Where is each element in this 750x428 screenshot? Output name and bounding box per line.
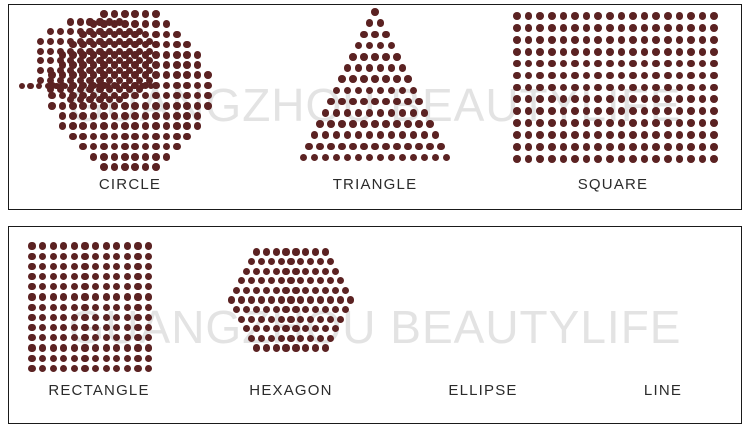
pattern-dot: [100, 10, 108, 18]
pattern-dot: [90, 112, 98, 120]
pattern-dot: [100, 163, 108, 171]
pattern-dot: [50, 304, 57, 311]
pattern-dot: [79, 143, 87, 151]
pattern-dot: [548, 155, 556, 163]
pattern-dot: [282, 325, 289, 332]
pattern-dot: [173, 82, 181, 90]
pattern-dot: [67, 96, 74, 103]
pattern-dot: [194, 92, 202, 100]
pattern-dot: [113, 314, 120, 321]
pattern-dot: [676, 84, 684, 92]
pattern-dot: [273, 268, 280, 275]
pattern-dot: [28, 355, 35, 362]
pattern-dot: [134, 293, 141, 300]
pattern-dot: [410, 87, 418, 95]
pattern-dot: [28, 283, 35, 290]
pattern-dot: [183, 133, 191, 141]
pattern-dot: [536, 36, 544, 44]
pattern-dot: [263, 268, 270, 275]
pattern-dot: [302, 325, 309, 332]
pattern-dot: [382, 31, 390, 39]
pattern-dot: [371, 8, 379, 16]
pattern-dot: [60, 344, 67, 351]
pattern-dot: [71, 324, 78, 331]
pattern-dot: [687, 155, 695, 163]
pattern-dot: [183, 82, 191, 90]
pattern-dot: [113, 344, 120, 351]
pattern-dot: [194, 102, 202, 110]
pattern-dot: [710, 84, 718, 92]
pattern-dot: [342, 306, 349, 313]
label-triangle: TRIANGLE: [265, 176, 485, 193]
pattern-dot: [71, 344, 78, 351]
pattern-dot: [163, 61, 171, 69]
pattern-dot: [124, 334, 131, 341]
pattern-dot: [355, 154, 363, 162]
pattern-dot: [81, 283, 88, 290]
pattern-dot: [606, 131, 614, 139]
pattern-dot: [131, 10, 139, 18]
pattern-dot: [263, 306, 270, 313]
pattern-dot: [513, 48, 521, 56]
pattern-dot: [437, 143, 445, 151]
pattern-dot: [81, 253, 88, 260]
pattern-dot: [103, 365, 110, 372]
pattern-dot: [652, 48, 660, 56]
pattern-dot: [28, 344, 35, 351]
pattern-dot: [60, 314, 67, 321]
pattern-dot: [111, 10, 119, 18]
pattern-dot: [652, 72, 660, 80]
pattern-dot: [571, 84, 579, 92]
pattern-dot: [327, 143, 335, 151]
pattern-dot: [124, 293, 131, 300]
pattern-dot: [606, 155, 614, 163]
pattern-dot: [382, 53, 390, 61]
pattern-dot: [278, 258, 285, 265]
pattern-dot: [525, 131, 533, 139]
pattern-dot: [37, 48, 44, 55]
pattern-dot: [278, 296, 285, 303]
pattern-dot: [332, 287, 339, 294]
pattern-dot: [548, 84, 556, 92]
pattern-dot: [100, 153, 108, 161]
pattern-dot: [28, 314, 35, 321]
pattern-dot: [81, 263, 88, 270]
pattern-dot: [92, 242, 99, 249]
pattern-dot: [333, 154, 341, 162]
pattern-dot: [124, 242, 131, 249]
pattern-dot: [664, 143, 672, 151]
pattern-dot: [28, 324, 35, 331]
pattern-dot: [134, 334, 141, 341]
pattern-dot: [360, 98, 368, 106]
pattern-dot: [699, 119, 707, 127]
pattern-dot: [525, 143, 533, 151]
pattern-dot: [388, 87, 396, 95]
pattern-dot: [134, 242, 141, 249]
pattern-dot: [332, 268, 339, 275]
pattern-dot: [571, 119, 579, 127]
pattern-dot: [377, 64, 385, 72]
rectangle-dot-art: [4, 236, 194, 369]
pattern-dot: [50, 344, 57, 351]
pattern-dot: [513, 143, 521, 151]
pattern-dot: [525, 24, 533, 32]
pattern-dot: [687, 60, 695, 68]
pattern-dot: [618, 36, 626, 44]
pattern-dot: [173, 51, 181, 59]
pattern-dot: [124, 253, 131, 260]
pattern-dot: [594, 155, 602, 163]
pattern-dot: [664, 48, 672, 56]
pattern-dot: [163, 112, 171, 120]
pattern-dot: [287, 335, 294, 342]
pattern-dot: [111, 112, 119, 120]
pattern-dot: [583, 48, 591, 56]
pattern-dot: [618, 48, 626, 56]
pattern-dot: [96, 48, 103, 55]
pattern-dot: [641, 155, 649, 163]
pattern-dot: [134, 365, 141, 372]
pattern-dot: [233, 306, 240, 313]
pattern-dot: [50, 253, 57, 260]
pattern-dot: [676, 72, 684, 80]
pattern-dot: [618, 131, 626, 139]
pattern-dot: [652, 84, 660, 92]
pattern-dot: [71, 293, 78, 300]
pattern-dot: [71, 334, 78, 341]
pattern-dot: [393, 53, 401, 61]
pattern-dot: [86, 38, 93, 45]
pattern-dot: [173, 31, 181, 39]
pattern-dot: [699, 107, 707, 115]
pattern-dot: [134, 273, 141, 280]
pattern-dot: [629, 84, 637, 92]
pattern-dot: [142, 163, 150, 171]
pattern-dot: [421, 131, 429, 139]
pattern-dot: [136, 48, 143, 55]
pattern-dot: [536, 72, 544, 80]
pattern-dot: [333, 87, 341, 95]
pattern-dot: [145, 344, 152, 351]
pattern-dot: [39, 253, 46, 260]
pattern-dot: [28, 293, 35, 300]
pattern-dot: [322, 154, 330, 162]
pattern-dot: [382, 98, 390, 106]
pattern-dot: [513, 84, 521, 92]
pattern-dot: [92, 293, 99, 300]
pattern-dot: [28, 263, 35, 270]
pattern-dot: [664, 60, 672, 68]
pattern-dot: [432, 131, 440, 139]
pattern-dot: [513, 36, 521, 44]
pattern-dot: [163, 20, 171, 28]
pattern-dot: [548, 95, 556, 103]
pattern-dot: [317, 316, 324, 323]
pattern-dot: [302, 248, 309, 255]
pattern-dot: [124, 283, 131, 290]
pattern-dot: [641, 36, 649, 44]
pattern-dot: [676, 119, 684, 127]
pattern-dot: [77, 38, 84, 45]
pattern-dot: [268, 277, 275, 284]
triangle-dot-art: [265, 4, 485, 161]
pattern-dot: [388, 109, 396, 117]
pattern-dot: [594, 119, 602, 127]
pattern-dot: [103, 273, 110, 280]
pattern-dot: [583, 24, 591, 32]
pattern-dot: [606, 84, 614, 92]
pattern-dot: [248, 335, 255, 342]
pattern-dot: [145, 242, 152, 249]
pattern-dot: [152, 112, 160, 120]
pattern-dot: [96, 83, 103, 90]
pattern-dot: [194, 51, 202, 59]
pattern-dot: [69, 102, 77, 110]
pattern-dot: [548, 24, 556, 32]
pattern-dot: [347, 296, 354, 303]
pattern-dot: [50, 283, 57, 290]
pattern-dot: [71, 304, 78, 311]
pattern-dot: [292, 248, 299, 255]
pattern-dot: [560, 60, 568, 68]
pattern-dot: [652, 155, 660, 163]
pattern-dot: [349, 120, 357, 128]
pattern-dot: [131, 122, 139, 130]
pattern-dot: [305, 143, 313, 151]
pattern-dot: [71, 283, 78, 290]
pattern-dot: [113, 283, 120, 290]
pattern-dot: [349, 98, 357, 106]
pattern-dot: [360, 143, 368, 151]
pattern-dot: [377, 87, 385, 95]
pattern-dot: [297, 277, 304, 284]
pattern-dot: [134, 263, 141, 270]
pattern-dot: [525, 48, 533, 56]
pattern-dot: [124, 314, 131, 321]
pattern-dot: [103, 344, 110, 351]
pattern-dot: [536, 95, 544, 103]
pattern-dot: [594, 12, 602, 20]
pattern-dot: [173, 102, 181, 110]
pattern-dot: [39, 344, 46, 351]
pattern-dot: [652, 95, 660, 103]
pattern-dot: [81, 334, 88, 341]
pattern-dot: [96, 57, 103, 64]
pattern-dot: [238, 277, 245, 284]
pattern-dot: [322, 306, 329, 313]
pattern-dot: [641, 12, 649, 20]
pattern-dot: [79, 112, 87, 120]
pattern-dot: [571, 143, 579, 151]
pattern-dot: [145, 314, 152, 321]
pattern-dot: [710, 36, 718, 44]
pattern-dot: [377, 154, 385, 162]
pattern-dot: [371, 98, 379, 106]
pattern-dot: [146, 38, 153, 45]
pattern-dot: [399, 154, 407, 162]
pattern-dot: [145, 273, 152, 280]
pattern-dot: [113, 242, 120, 249]
pattern-dot: [92, 263, 99, 270]
pattern-dot: [268, 296, 275, 303]
pattern-dot: [86, 67, 93, 74]
pattern-dot: [307, 335, 314, 342]
pattern-dot: [652, 143, 660, 151]
pattern-dot: [699, 36, 707, 44]
pattern-dot: [287, 316, 294, 323]
pattern-dot: [536, 24, 544, 32]
pattern-dot: [163, 102, 171, 110]
pattern-dot: [583, 72, 591, 80]
pattern-dot: [618, 12, 626, 20]
pattern-dot: [69, 112, 77, 120]
pattern-dot: [664, 24, 672, 32]
pattern-dot: [388, 154, 396, 162]
pattern-dot: [699, 155, 707, 163]
pattern-dot: [243, 287, 250, 294]
pattern-dot: [90, 143, 98, 151]
figure-triangle: [265, 4, 485, 161]
pattern-dot: [513, 60, 521, 68]
pattern-dot: [536, 131, 544, 139]
pattern-dot: [258, 277, 265, 284]
pattern-dot: [50, 293, 57, 300]
pattern-dot: [560, 107, 568, 115]
pattern-dot: [39, 314, 46, 321]
pattern-dot: [366, 19, 374, 27]
pattern-dot: [50, 334, 57, 341]
pattern-dot: [86, 28, 93, 35]
pattern-dot: [594, 60, 602, 68]
pattern-dot: [699, 24, 707, 32]
pattern-dot: [360, 31, 368, 39]
pattern-dot: [258, 258, 265, 265]
pattern-dot: [687, 24, 695, 32]
pattern-dot: [710, 72, 718, 80]
pattern-dot: [69, 133, 77, 141]
pattern-dot: [28, 273, 35, 280]
pattern-dot: [71, 242, 78, 249]
pattern-dot: [355, 131, 363, 139]
pattern-dot: [67, 38, 74, 45]
pattern-dot: [300, 154, 308, 162]
pattern-dot: [443, 154, 451, 162]
pattern-dot: [710, 155, 718, 163]
pattern-dot: [258, 296, 265, 303]
pattern-dot: [302, 344, 309, 351]
pattern-dot: [360, 120, 368, 128]
pattern-dot: [676, 155, 684, 163]
pattern-dot: [142, 102, 150, 110]
pattern-dot: [641, 72, 649, 80]
pattern-dot: [121, 163, 129, 171]
pattern-dot: [103, 334, 110, 341]
pattern-dot: [145, 304, 152, 311]
pattern-dot: [652, 36, 660, 44]
pattern-dot: [152, 102, 160, 110]
pattern-dot: [92, 304, 99, 311]
pattern-dot: [560, 36, 568, 44]
pattern-dot: [344, 109, 352, 117]
pattern-dot: [134, 344, 141, 351]
pattern-dot: [366, 87, 374, 95]
pattern-dot: [664, 131, 672, 139]
pattern-dot: [121, 10, 129, 18]
pattern-dot: [243, 306, 250, 313]
pattern-dot: [710, 107, 718, 115]
pattern-dot: [103, 253, 110, 260]
pattern-dot: [139, 83, 146, 90]
pattern-dot: [146, 48, 153, 55]
pattern-dot: [173, 41, 181, 49]
pattern-dot: [687, 143, 695, 151]
pattern-dot: [100, 122, 108, 130]
pattern-dot: [322, 109, 330, 117]
pattern-dot: [652, 107, 660, 115]
pattern-dot: [111, 133, 119, 141]
pattern-dot: [60, 283, 67, 290]
pattern-dot: [676, 60, 684, 68]
pattern-dot: [263, 325, 270, 332]
pattern-dot: [163, 92, 171, 100]
pattern-dot: [173, 122, 181, 130]
pattern-dot: [421, 109, 429, 117]
pattern-dot: [103, 242, 110, 249]
pattern-dot: [312, 248, 319, 255]
pattern-dot: [629, 12, 637, 20]
pattern-dot: [344, 87, 352, 95]
pattern-dot: [243, 325, 250, 332]
pattern-dot: [548, 36, 556, 44]
pattern-dot: [268, 335, 275, 342]
pattern-dot: [131, 112, 139, 120]
pattern-dot: [687, 12, 695, 20]
pattern-dot: [710, 143, 718, 151]
pattern-dot: [57, 67, 64, 74]
pattern-dot: [183, 102, 191, 110]
pattern-dot: [710, 131, 718, 139]
pattern-dot: [228, 296, 235, 303]
pattern-dot: [134, 355, 141, 362]
pattern-dot: [103, 263, 110, 270]
pattern-dot: [536, 143, 544, 151]
figure-hexagon: [196, 236, 386, 342]
pattern-dot: [641, 48, 649, 56]
pattern-dot: [81, 324, 88, 331]
pattern-dot: [152, 122, 160, 130]
pattern-dot: [100, 133, 108, 141]
pattern-dot: [79, 122, 87, 130]
pattern-dot: [60, 273, 67, 280]
pattern-dot: [699, 12, 707, 20]
pattern-dot: [248, 277, 255, 284]
pattern-dot: [382, 143, 390, 151]
pattern-dot: [145, 253, 152, 260]
pattern-dot: [536, 12, 544, 20]
pattern-dot: [124, 324, 131, 331]
pattern-dot: [652, 119, 660, 127]
pattern-dot: [583, 84, 591, 92]
pattern-dot: [525, 36, 533, 44]
pattern-dot: [583, 36, 591, 44]
figure-rectangle: [4, 236, 194, 369]
pattern-dot: [629, 95, 637, 103]
pattern-dot: [652, 12, 660, 20]
pattern-dot: [560, 84, 568, 92]
pattern-dot: [121, 143, 129, 151]
